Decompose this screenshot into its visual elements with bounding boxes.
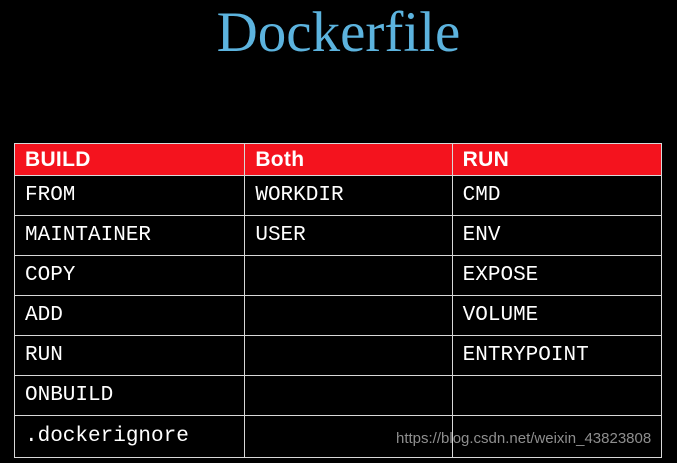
cell-build-4: RUN xyxy=(15,336,245,376)
cell-run-3: VOLUME xyxy=(452,296,661,336)
dockerfile-instructions-table: BUILD Both RUN FROM WORKDIR CMD MAINTAIN… xyxy=(14,143,662,456)
column-header-run: RUN xyxy=(452,144,661,176)
cell-run-0: CMD xyxy=(452,176,661,216)
slide-canvas: Dockerfile BUILD Both RUN FROM WORKDIR C… xyxy=(0,0,677,463)
table-row: RUN ENTRYPOINT xyxy=(15,336,662,376)
cell-build-6: .dockerignore xyxy=(15,416,245,458)
cell-run-1: ENV xyxy=(452,216,661,256)
cell-build-1: MAINTAINER xyxy=(15,216,245,256)
cell-run-5 xyxy=(452,376,661,416)
cell-both-5 xyxy=(245,376,452,416)
table-row: ONBUILD xyxy=(15,376,662,416)
table-row: .dockerignore xyxy=(15,416,662,458)
column-header-both: Both xyxy=(245,144,452,176)
cell-both-6 xyxy=(245,416,452,458)
cell-build-2: COPY xyxy=(15,256,245,296)
cell-run-2: EXPOSE xyxy=(452,256,661,296)
table-row: MAINTAINER USER ENV xyxy=(15,216,662,256)
cell-build-0: FROM xyxy=(15,176,245,216)
cell-run-6 xyxy=(452,416,661,458)
column-header-build: BUILD xyxy=(15,144,245,176)
cell-both-4 xyxy=(245,336,452,376)
table-body: FROM WORKDIR CMD MAINTAINER USER ENV COP… xyxy=(15,176,662,458)
cell-build-3: ADD xyxy=(15,296,245,336)
header-row: BUILD Both RUN xyxy=(15,144,662,176)
table-row: COPY EXPOSE xyxy=(15,256,662,296)
cell-build-5: ONBUILD xyxy=(15,376,245,416)
cell-both-3 xyxy=(245,296,452,336)
cell-both-1: USER xyxy=(245,216,452,256)
table-row: ADD VOLUME xyxy=(15,296,662,336)
table-row: FROM WORKDIR CMD xyxy=(15,176,662,216)
cell-both-2 xyxy=(245,256,452,296)
instructions-table: BUILD Both RUN FROM WORKDIR CMD MAINTAIN… xyxy=(14,143,662,458)
table-header: BUILD Both RUN xyxy=(15,144,662,176)
cell-both-0: WORKDIR xyxy=(245,176,452,216)
page-title: Dockerfile xyxy=(0,2,677,64)
cell-run-4: ENTRYPOINT xyxy=(452,336,661,376)
